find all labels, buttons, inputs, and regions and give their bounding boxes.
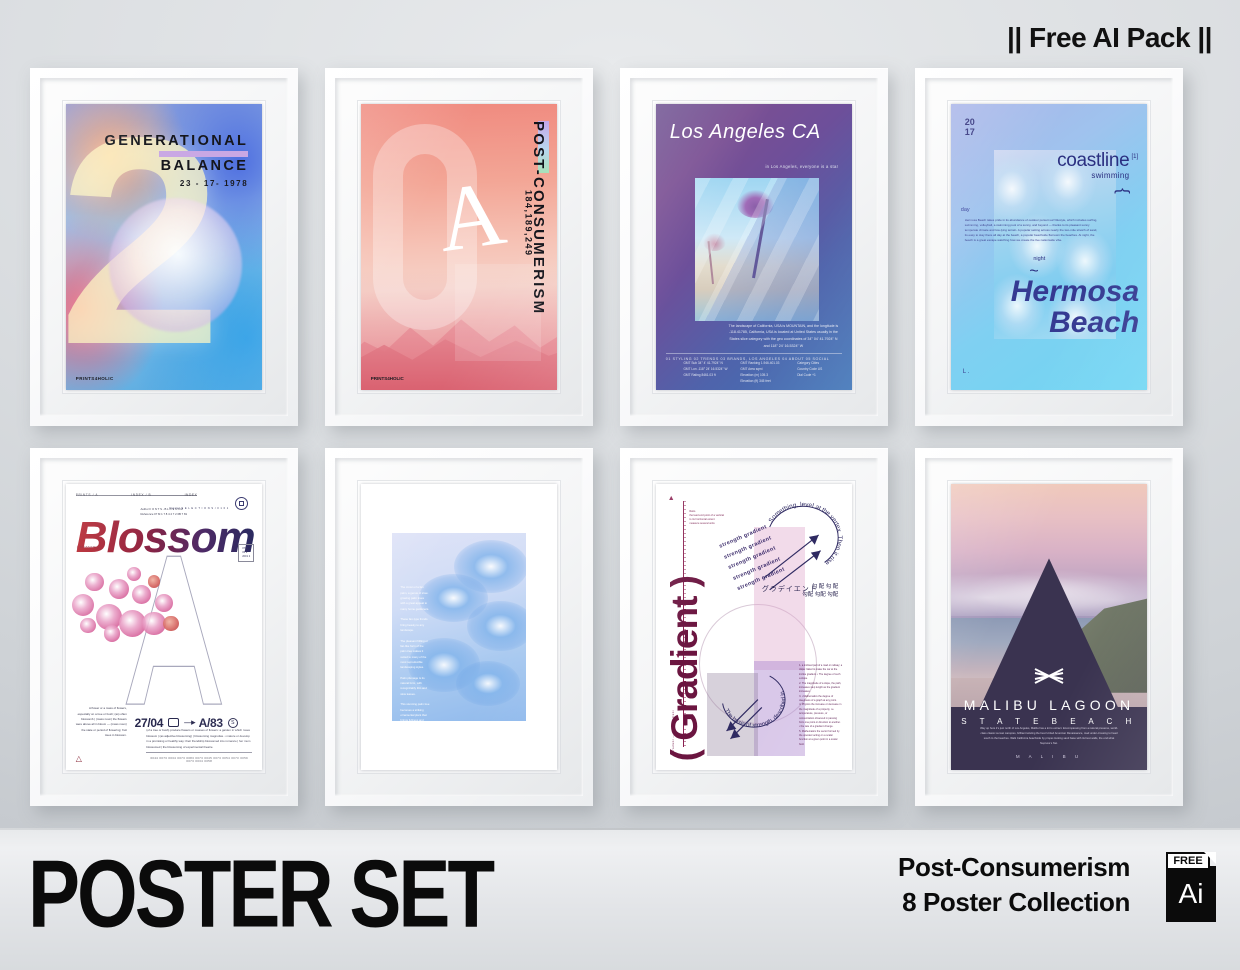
year-bottom: 17 <box>965 127 975 137</box>
poster-art-malibu-lagoon: MALIBU LAGOON S T A T E B E A C H Way up… <box>951 484 1147 770</box>
poster-paragraph: Hermosa Beach takes pride in its abundan… <box>965 218 1098 243</box>
data-column-3: Category Cities Country Code US Dial Cod… <box>797 360 844 384</box>
poster-bottom-paragraph: (of a tree or bush) produce flowers or m… <box>146 728 252 750</box>
poster-art-post-consumerism: A POST-CONSUMERISM 184,189,249 PRINTS4HO… <box>361 104 557 390</box>
poster-paragraph: Way up here it's just north of Los Angel… <box>978 726 1119 746</box>
frame-mat: PRINTS / A INDEX / B INDEX Author F O N … <box>62 480 266 774</box>
poster-frame-malibu-lagoon[interactable]: MALIBU LAGOON S T A T E B E A C H Way up… <box>915 448 1183 806</box>
frame-mat: A POST-CONSUMERISM 184,189,249 PRINTS4HO… <box>357 100 561 394</box>
poster-body-text: The landscape of California, USA is MOUN… <box>727 323 841 350</box>
poster-frame-gradient[interactable]: ▲ ▼ Ratio the lead end point of a vertic… <box>620 448 888 806</box>
frame-mat: The crown of a fan palm, a genus of slow… <box>357 480 561 774</box>
circle-s-icon: S <box>228 718 238 728</box>
poster-text: The crown of a fan palm, a genus of slow… <box>400 585 429 721</box>
badge-ai-label: Ai <box>1166 866 1216 922</box>
poster-frame-blossom[interactable]: PRINTS / A INDEX / B INDEX Author F O N … <box>30 448 298 806</box>
poster-title: Los Angeles CA <box>670 121 821 144</box>
japanese-label-secondary: 勾 配 勾 配 勾配 勾配 勾配 <box>802 583 838 600</box>
night-label: night <box>1033 256 1045 262</box>
poster-art-hermosa-beach: 20 17 coastline [1] swimming { day Hermo… <box>951 104 1147 390</box>
cherry-blossom-cluster <box>70 561 199 658</box>
beach-photo <box>695 178 818 321</box>
free-ai-badge: FREE Ai <box>1164 852 1220 922</box>
poster-art-blossom: PRINTS / A INDEX / B INDEX Author F O N … <box>66 484 262 770</box>
palm-cluster-icon <box>994 157 1040 221</box>
poster-data-columns: GMT Sub 34° 4' 41.7924'' N GMT Lon -118°… <box>683 360 844 384</box>
frame-bevel: PRINTS / A INDEX / B INDEX Author F O N … <box>40 458 288 796</box>
poster-subtitle: S T A T E B E A C H <box>951 717 1147 726</box>
palm-frond-icon <box>456 661 520 706</box>
translucent-square <box>455 264 541 361</box>
frame-mat: 20 17 coastline [1] swimming { day Hermo… <box>947 100 1151 394</box>
floor-line <box>0 828 1240 830</box>
frame-bevel: MALIBU LAGOON S T A T E B E A C H Way up… <box>925 458 1173 796</box>
arc-bottom-text: The basis of strength, described in <box>723 690 787 729</box>
crossed-lines-logo-icon <box>1032 664 1066 693</box>
coastline-label: coastline <box>1057 150 1129 172</box>
poster-art-los-angeles: Los Angeles CA in Los Angeles, everyone … <box>656 104 852 390</box>
free-ai-pack-label: || Free AI Pack || <box>1007 22 1212 54</box>
meta-left: PRINTS / A <box>76 493 98 497</box>
data-column-1: GMT Sub 34° 4' 41.7924'' N GMT Lon -118°… <box>683 360 730 384</box>
poster-art-gradient: ▲ ▼ Ratio the lead end point of a vertic… <box>656 484 852 770</box>
badge-fold-corner <box>1204 852 1216 864</box>
seal-caption: Digital S E L E C T I O N S / 0 1 0 1 <box>169 507 228 510</box>
palm-frond-icon <box>467 601 526 652</box>
corner-mark: L . <box>963 369 969 376</box>
poster-footer-text: M A L I B U <box>951 754 1147 759</box>
poster-title: ( Gradient ) <box>664 576 706 761</box>
frame-mat: Los Angeles CA in Los Angeles, everyone … <box>652 100 856 394</box>
poster-subtitle: ( blossom ) <box>77 545 99 549</box>
poster-frame-los-angeles[interactable]: Los Angeles CA in Los Angeles, everyone … <box>620 68 888 426</box>
title-line-2: Beach <box>1049 306 1139 339</box>
poster-art-generational-balance: 2 GENERATIONAL BALANCE 23 - 17- 1978 PRI… <box>66 104 262 390</box>
gradient-orb <box>109 198 242 331</box>
frame-bevel: Los Angeles CA in Los Angeles, everyone … <box>630 78 878 416</box>
footer-description: Post-Consumerism 8 Poster Collection <box>898 850 1130 920</box>
footer-line-1: Post-Consumerism <box>898 850 1130 885</box>
corner-note: 0700 03 2 2019 2 <box>238 544 254 562</box>
poster-letter-a: A <box>432 166 511 266</box>
poster-frame-post-consumerism[interactable]: A POST-CONSUMERISM 184,189,249 PRINTS4HO… <box>325 68 593 426</box>
stamp-icon <box>168 718 179 727</box>
frame-mat: ▲ ▼ Ratio the lead end point of a vertic… <box>652 480 856 774</box>
poster-top-meta: PRINTS / A INDEX / B INDEX <box>76 493 198 497</box>
svg-text:The basis of strength, describ: The basis of strength, described in <box>723 690 787 729</box>
footer-line-2: 8 Poster Collection <box>898 885 1130 920</box>
frame-mat: 2 GENERATIONAL BALANCE 23 - 17- 1978 PRI… <box>62 100 266 394</box>
heading-line-2: BALANCE <box>105 158 249 174</box>
poster-art-palm-blue: The crown of a fan palm, a genus of slow… <box>361 484 557 770</box>
poster-bottom-codes: 0044 0073 0034 0073 0083 0073 0045 0073 … <box>146 757 252 763</box>
palm-image: The crown of a fan palm, a genus of slow… <box>392 533 525 722</box>
frame-bevel: 2 GENERATIONAL BALANCE 23 - 17- 1978 PRI… <box>40 78 288 416</box>
poster-vertical-numbers: 184,189,249 <box>523 190 533 257</box>
poster-year: 20 17 <box>965 118 975 137</box>
arrow-right-icon: —▸ <box>184 717 194 728</box>
poster-title: MALIBU LAGOON <box>951 697 1147 713</box>
bottom-divider <box>146 752 252 753</box>
poster-frame-generational-balance[interactable]: 2 GENERATIONAL BALANCE 23 - 17- 1978 PRI… <box>30 68 298 426</box>
poster-title: Blossom <box>76 513 255 563</box>
frame-bevel: The crown of a fan palm, a genus of slow… <box>335 458 583 796</box>
day-label: day <box>961 207 970 213</box>
brace-icon: { <box>1113 188 1133 194</box>
footer-title: POSTER SET <box>28 846 492 941</box>
poster-frame-palm-blue[interactable]: The crown of a fan palm, a genus of slow… <box>325 448 593 806</box>
poster-frame-hermosa-beach[interactable]: 20 17 coastline [1] swimming { day Hermo… <box>915 68 1183 426</box>
data-column-2: GMT Ranking 1.946.401.03 GMT Area sqmi E… <box>740 360 787 384</box>
poster-credit: PRINTS4HOLIC <box>371 376 404 381</box>
heading-accent-bar <box>159 151 248 157</box>
poster-subtitle: in Los Angeles, everyone is a star <box>765 164 838 169</box>
poster-left-paragraph: A flower or a mass of flowers, especiall… <box>76 706 127 738</box>
frame-bevel: 20 17 coastline [1] swimming { day Hermo… <box>925 78 1173 416</box>
heading-date: 23 - 17- 1978 <box>105 179 249 188</box>
title-line-1: Hermosa <box>1011 275 1139 308</box>
poster-title: Hermosa Beach <box>1011 277 1139 338</box>
seal-icon <box>235 497 248 510</box>
poster-credit: PRINTS4HOLIC <box>76 376 114 381</box>
photo-diagonal-stripes <box>695 178 818 321</box>
poster-bottom-paragraph: 1. a inclined part of a road or railway;… <box>799 664 842 747</box>
frame-bevel: A POST-CONSUMERISM 184,189,249 PRINTS4HO… <box>335 78 583 416</box>
frame-mat: MALIBU LAGOON S T A T E B E A C H Way up… <box>947 480 1151 774</box>
meta-right: INDEX <box>185 493 198 497</box>
frame-bevel: ▲ ▼ Ratio the lead end point of a vertic… <box>630 458 878 796</box>
marker-label: [1] <box>1132 154 1139 160</box>
poster-heading-block: GENERATIONAL BALANCE 23 - 17- 1978 <box>105 133 249 188</box>
heading-line-1: GENERATIONAL <box>105 133 249 149</box>
triangle-icon: △ <box>76 754 82 763</box>
meta-mid: INDEX / B <box>131 493 151 497</box>
swimming-label: swimming <box>1091 171 1129 180</box>
